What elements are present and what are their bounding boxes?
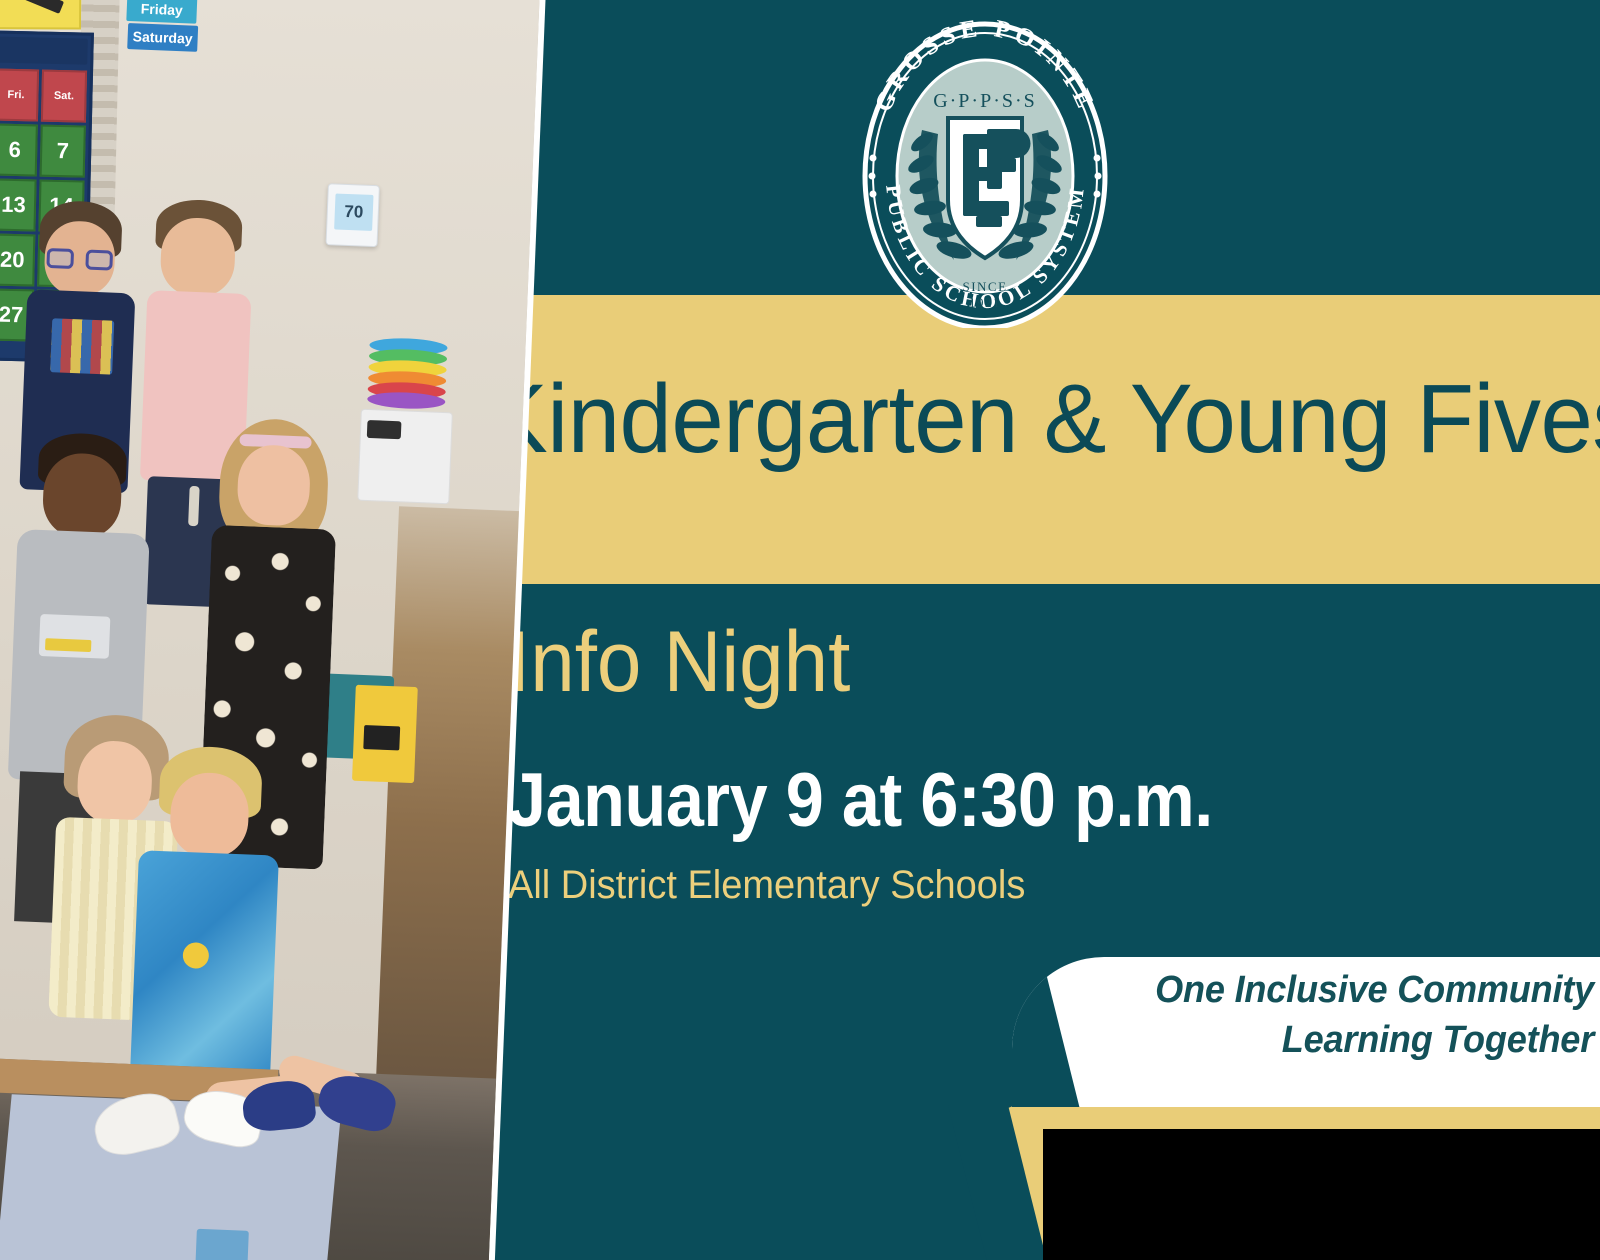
kindergarten-info-night-flyer: GROSSE POINTE PUBLIC SCHOOL SYSTEM G·P·P… <box>0 0 1600 1260</box>
calendar-day-cell: 20 <box>0 233 35 286</box>
classroom-photo-frame: Fri. Sat. 6 7 13 14 20 21 27 28 <box>0 0 546 1260</box>
svg-text:G·P·P·S·S: G·P·P·S·S <box>933 90 1037 112</box>
face <box>236 444 311 527</box>
tagline-text: One Inclusive Community Learning Togethe… <box>1155 965 1594 1065</box>
stacking-rings-toy <box>367 337 448 406</box>
face <box>159 217 236 298</box>
svg-text:1921: 1921 <box>969 295 1001 310</box>
tagline-line-1: One Inclusive Community <box>1155 965 1594 1015</box>
district-seal-logo: GROSSE POINTE PUBLIC SCHOOL SYSTEM G·P·P… <box>850 8 1120 328</box>
event-datetime: January 9 at 6:30 p.m. <box>508 757 1213 844</box>
event-location: All District Elementary Schools <box>508 863 1025 908</box>
rug-square <box>195 1229 248 1260</box>
face <box>169 771 250 858</box>
face <box>42 452 123 539</box>
page-title: Kindergarten & Young Fives <box>485 368 1552 470</box>
thermostat: 70 <box>325 183 379 247</box>
shirt-graphic <box>50 318 114 374</box>
storage-bin-yellow <box>352 685 418 783</box>
chart-header-strip <box>0 37 88 65</box>
calendar-day-cell: 13 <box>0 178 37 231</box>
calendar-day-cell: 7 <box>40 125 86 178</box>
classroom-photo: Fri. Sat. 6 7 13 14 20 21 27 28 <box>0 0 540 1260</box>
thermostat-reading: 70 <box>334 193 373 230</box>
tagline-panel: One Inclusive Community Learning Togethe… <box>1012 957 1600 1107</box>
calendar-header-cell: Fri. <box>0 69 39 122</box>
glasses-icon <box>46 248 113 271</box>
storage-bin-white <box>357 409 453 505</box>
black-footer-block <box>1043 1129 1600 1260</box>
svg-text:SINCE: SINCE <box>962 279 1007 294</box>
calendar-day-cell: 6 <box>0 123 38 176</box>
hoodie-graphic <box>39 614 111 659</box>
calendar-header-cell: Sat. <box>41 70 87 123</box>
calendar-row: 6 7 <box>0 120 89 177</box>
day-card-saturday: Saturday <box>127 23 198 52</box>
tagline-line-2: Learning Together <box>1155 1015 1594 1065</box>
calendar-header-row: Fri. Sat. <box>0 65 90 122</box>
event-label: Info Night <box>508 613 850 712</box>
wall-poster <box>0 0 81 30</box>
day-card-friday: Friday <box>126 0 197 24</box>
blue-fleece <box>130 850 279 1085</box>
face <box>76 740 153 825</box>
